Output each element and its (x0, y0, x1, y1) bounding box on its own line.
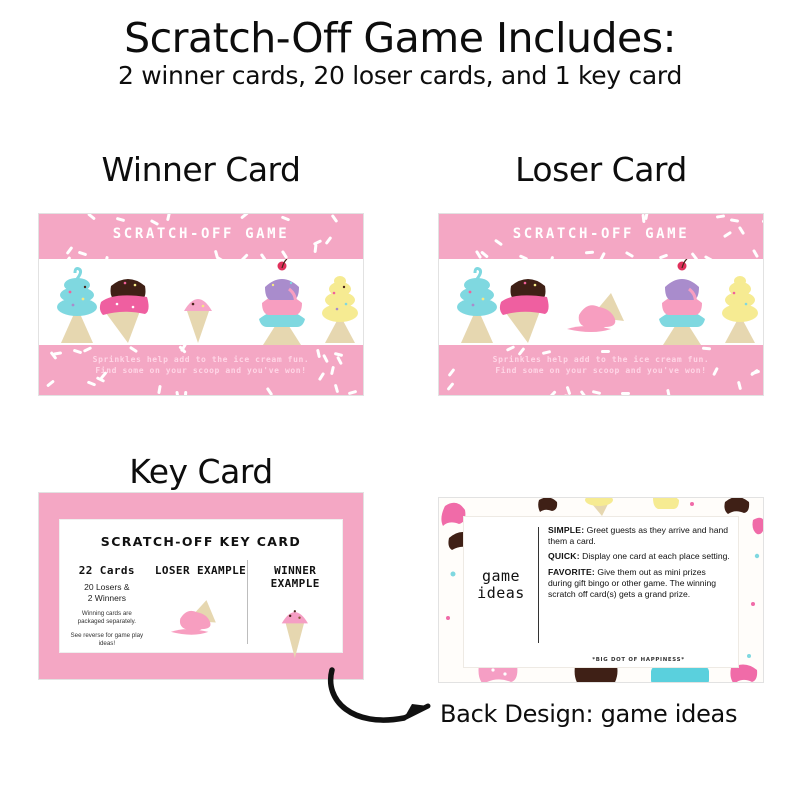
back-card-inner-panel: game ideas SIMPLE: Greet guests as they … (463, 516, 739, 668)
loser-card[interactable]: SCRATCH-OFF GAME (438, 213, 764, 396)
sprinkle-icon (149, 219, 158, 226)
key-card-winner-example-column: WINNER EXAMPLE (247, 560, 342, 644)
brand-footer: *BIG DOT OF HAPPINESS* (539, 657, 738, 663)
sprinkle-icon (334, 384, 339, 393)
winner-card-label: Winner Card (38, 150, 364, 189)
winner-example-title: WINNER EXAMPLE (248, 564, 342, 590)
loser-card-bottom-band: Sprinkles help add to the ice cream fun.… (439, 345, 763, 395)
sprinkle-icon (737, 381, 742, 390)
game-ideas-side-label: game ideas (464, 527, 539, 643)
sprinkle-icon (599, 251, 606, 259)
sprinkle-icon (87, 380, 96, 386)
yellow-swirl-cone-icon (722, 276, 758, 343)
sprinkle-icon (566, 386, 572, 395)
winner-footer-line-1: Sprinkles help add to the ice cream fun. (39, 354, 363, 365)
game-idea-label-favorite: FAVORITE: (548, 567, 595, 577)
game-idea-item-favorite: FAVORITE: Give them out as mini prizes d… (548, 567, 730, 601)
sprinkle-icon (213, 250, 218, 259)
sprinkle-icon (129, 346, 138, 354)
pink-scoop-cone-icon (100, 295, 149, 343)
sprinkle-icon (730, 218, 739, 223)
loser-footer-line-1: Sprinkles help add to the ice cream fun. (439, 354, 763, 365)
sprinkle-icon (592, 390, 601, 395)
back-design-arrow-icon (300, 660, 460, 740)
sprinkle-icon (83, 347, 92, 354)
winner-card-footer-text: Sprinkles help add to the ice cream fun.… (39, 354, 363, 376)
loser-example-title: LOSER EXAMPLE (154, 564, 248, 577)
key-card-label: Key Card (38, 452, 364, 491)
sprinkle-icon (702, 347, 711, 351)
sprinkle-icon (314, 244, 318, 253)
sprinkle-icon (175, 391, 179, 395)
sprinkle-icon (506, 345, 515, 351)
page-title: Scratch-Off Game Includes: (0, 14, 800, 62)
sprinkle-icon (157, 385, 162, 394)
sprinkle-icon (752, 248, 759, 257)
pink-single-scoop-icon (184, 299, 212, 343)
triple-scoop-cone-icon (259, 259, 305, 345)
sprinkle-icon (281, 250, 288, 259)
sprinkle-icon (446, 382, 454, 391)
back-design-card[interactable]: game ideas SIMPLE: Greet guests as they … (438, 497, 764, 683)
sprinkle-icon (116, 217, 125, 222)
key-card-columns: 22 Cards 20 Losers & 2 Winners Winning c… (60, 560, 342, 644)
key-card-count-breakdown: 20 Losers & 2 Winners (60, 582, 154, 604)
sprinkle-icon (645, 214, 650, 220)
key-card-note-packaging: Winning cards are packaged separately. (60, 610, 154, 626)
loser-card-top-band: SCRATCH-OFF GAME (439, 214, 763, 259)
teal-swirl-cone-icon (457, 269, 497, 344)
loser-card-ice-cream-row (439, 259, 763, 347)
sprinkle-icon (666, 389, 671, 395)
sprinkle-icon (601, 350, 610, 353)
winner-card-ice-cream-row (39, 259, 363, 347)
winner-card-band-title: SCRATCH-OFF GAME (39, 226, 363, 242)
winner-card-top-band: SCRATCH-OFF GAME (39, 214, 363, 259)
winner-card[interactable]: SCRATCH-OFF GAME (38, 213, 364, 396)
winner-card-bottom-band: Sprinkles help add to the ice cream fun.… (39, 345, 363, 395)
sprinkle-icon (331, 214, 339, 223)
loser-card-band-title: SCRATCH-OFF GAME (439, 226, 763, 242)
page-subtitle: 2 winner cards, 20 loser cards, and 1 ke… (0, 61, 800, 90)
page-root: Scratch-Off Game Includes: 2 winner card… (0, 0, 800, 800)
sprinkle-icon (690, 252, 698, 259)
winner-example-scoop-icon (248, 590, 342, 668)
sprinkle-icon (585, 251, 594, 255)
sprinkle-icon (348, 390, 357, 395)
key-card-note-reverse: See reverse for game play ideas! (60, 632, 154, 648)
sprinkle-icon (78, 251, 87, 257)
yellow-swirl-cone-icon (322, 276, 358, 343)
melted-ice-cream-icon (567, 293, 624, 332)
sprinkle-icon (621, 392, 630, 395)
sprinkle-icon (183, 391, 187, 395)
triple-scoop-cone-icon (659, 259, 705, 345)
key-card-loser-example-column: LOSER EXAMPLE (154, 560, 248, 644)
sprinkle-icon (265, 387, 273, 395)
key-card-heading: SCRATCH-OFF KEY CARD (60, 534, 342, 549)
loser-ice-cream-illustration (439, 259, 764, 347)
key-card[interactable]: SCRATCH-OFF KEY CARD 22 Cards 20 Losers … (38, 492, 364, 680)
sprinkle-icon (280, 215, 289, 221)
sprinkle-icon (87, 214, 96, 221)
loser-example-melted-icon (154, 577, 248, 655)
game-idea-label-simple: SIMPLE: (548, 525, 584, 535)
game-ideas-word-line-1: game (482, 568, 520, 585)
game-ideas-word-line-2: ideas (477, 585, 525, 602)
game-idea-label-quick: QUICK: (548, 551, 580, 561)
key-card-count-title: 22 Cards (60, 564, 154, 577)
key-card-counts-column: 22 Cards 20 Losers & 2 Winners Winning c… (60, 560, 154, 644)
game-idea-item-quick: QUICK: Display one card at each place se… (548, 551, 730, 562)
key-card-winners-line: 2 Winners (60, 593, 154, 604)
loser-card-label: Loser Card (438, 150, 764, 189)
sprinkle-icon (66, 246, 74, 255)
sprinkle-icon (624, 251, 633, 258)
sprinkle-icon (166, 214, 171, 222)
sprinkle-icon (548, 391, 556, 395)
winner-ice-cream-illustration (39, 259, 364, 347)
sprinkle-icon (564, 394, 573, 395)
key-card-inner-panel: SCRATCH-OFF KEY CARD 22 Cards 20 Losers … (59, 519, 343, 653)
key-card-losers-line: 20 Losers & (60, 582, 154, 593)
teal-swirl-cone-icon (57, 269, 97, 344)
back-design-label: Back Design: game ideas (440, 700, 790, 728)
game-ideas-list: SIMPLE: Greet guests as they arrive and … (539, 517, 738, 667)
game-idea-text-quick: Display one card at each place setting. (580, 551, 730, 561)
sprinkle-icon (716, 214, 725, 218)
pink-scoop-cone-icon (500, 295, 549, 343)
sprinkle-icon (46, 379, 55, 387)
game-idea-item-simple: SIMPLE: Greet guests as they arrive and … (548, 525, 730, 547)
sprinkle-icon (580, 390, 588, 395)
sprinkle-icon (762, 220, 763, 223)
winner-footer-line-2: Find some on your scoop and you've won! (39, 365, 363, 376)
sprinkle-icon (240, 214, 249, 220)
